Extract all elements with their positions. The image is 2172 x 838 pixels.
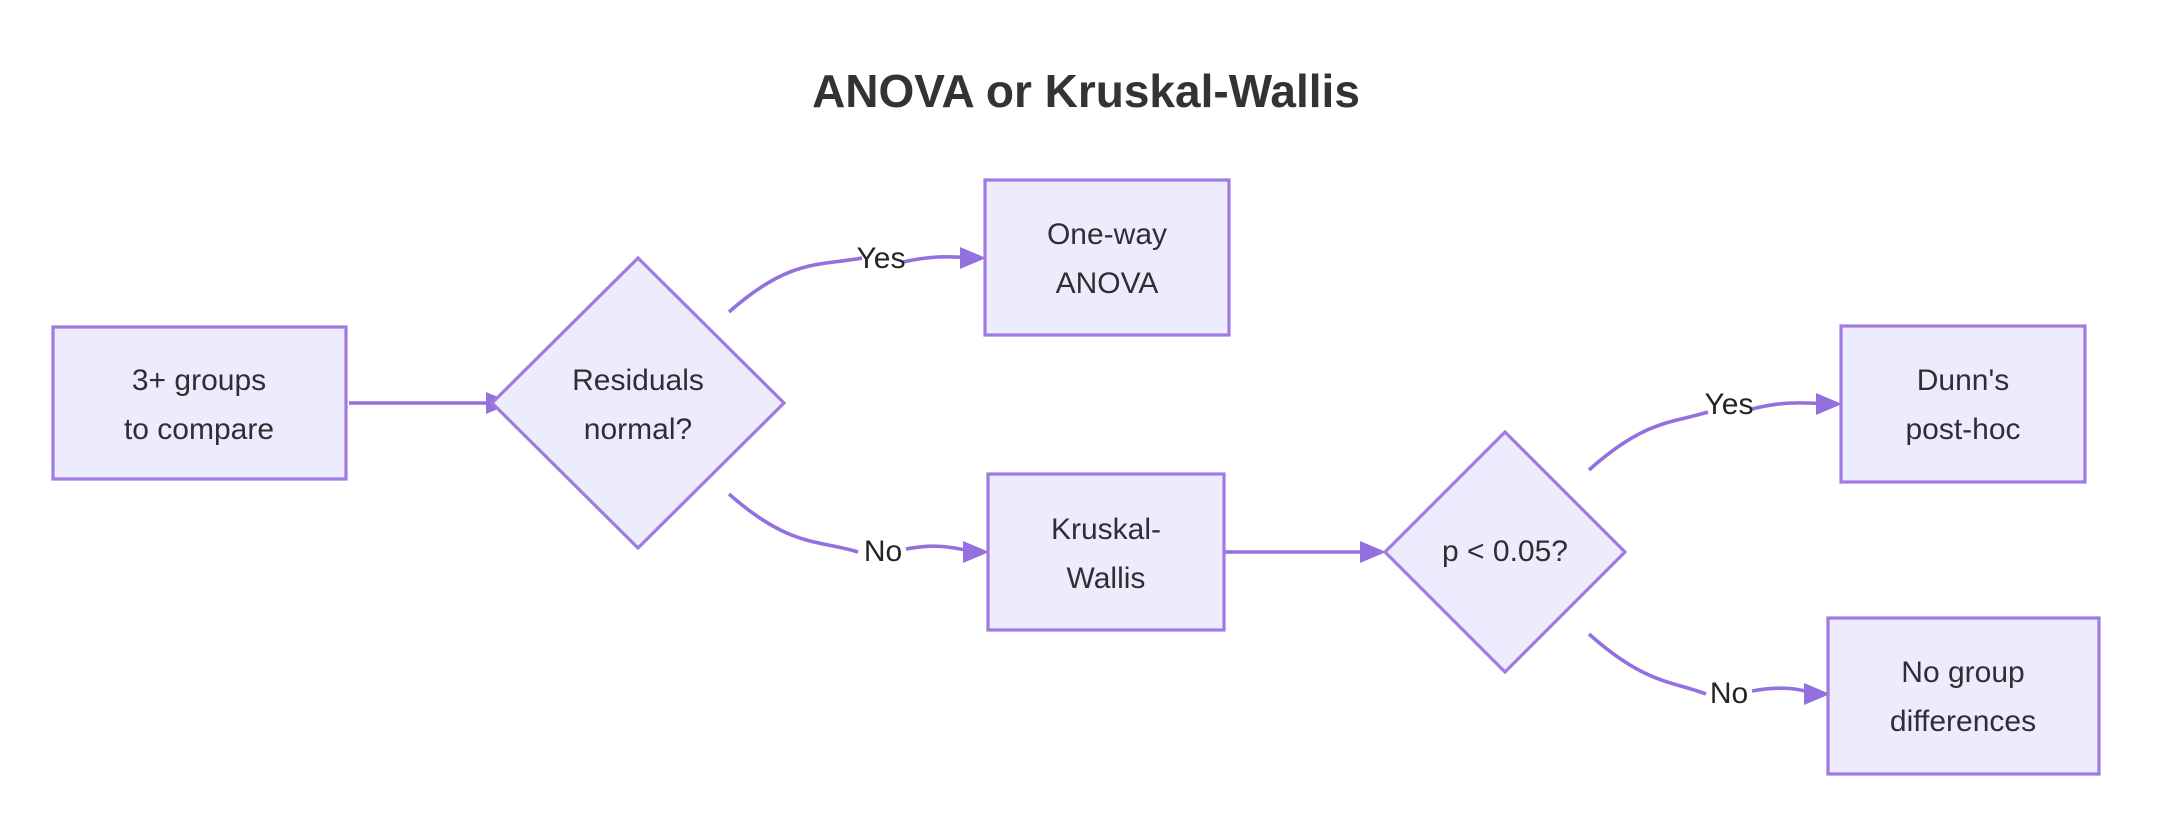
node-nodiff-shape[interactable] — [1828, 618, 2099, 774]
node-start-line2: to compare — [124, 413, 274, 446]
edge-normality-to-anova: Yes — [729, 242, 986, 312]
edge-pvalue-to-nodiff: No — [1589, 634, 1830, 710]
edge-line-lower — [1589, 634, 1706, 694]
edge-label-yes-right: Yes — [1705, 388, 1754, 421]
node-anova-line1: One-way — [1047, 218, 1167, 251]
node-start-shape[interactable] — [53, 327, 346, 479]
arrowhead-icon — [1360, 541, 1386, 563]
edge-line-lower — [1589, 412, 1708, 470]
arrowhead-icon — [1804, 683, 1830, 705]
node-start-line1: 3+ groups — [132, 364, 266, 397]
node-anova-line2: ANOVA — [1056, 267, 1159, 300]
edge-normality-to-kruskal: No — [729, 494, 989, 568]
node-nodiff-line2: differences — [1890, 705, 2036, 738]
node-dunn-line1: Dunn's — [1917, 364, 2009, 397]
node-nodiff[interactable]: No group differences — [1828, 618, 2099, 774]
arrowhead-icon — [963, 541, 989, 563]
node-kruskal-shape[interactable] — [988, 474, 1224, 630]
node-start[interactable]: 3+ groups to compare — [53, 327, 346, 479]
flowchart-svg: ANOVA or Kruskal-Wallis Yes No — [0, 0, 2172, 838]
edge-line-lower — [729, 494, 858, 552]
edge-label-yes-top: Yes — [857, 242, 906, 275]
node-dunn-line2: post-hoc — [1905, 413, 2020, 446]
edge-pvalue-to-dunn: Yes — [1589, 388, 1842, 470]
node-dunn-shape[interactable] — [1841, 326, 2085, 482]
node-normality-line1: Residuals — [572, 364, 704, 397]
node-kruskal-line1: Kruskal- — [1051, 513, 1161, 546]
page-title: ANOVA or Kruskal-Wallis — [812, 65, 1360, 117]
arrowhead-icon — [1816, 393, 1842, 415]
edge-label-no-right: No — [1710, 677, 1748, 710]
node-dunn[interactable]: Dunn's post-hoc — [1841, 326, 2085, 482]
node-anova-shape[interactable] — [985, 180, 1229, 335]
node-kruskal[interactable]: Kruskal- Wallis — [988, 474, 1224, 630]
edge-kruskal-to-pvalue — [1223, 541, 1386, 563]
node-normality-line2: normal? — [584, 413, 692, 446]
node-kruskal-line2: Wallis — [1067, 562, 1146, 595]
node-anova[interactable]: One-way ANOVA — [985, 180, 1229, 335]
flowchart-canvas: ANOVA or Kruskal-Wallis Yes No — [0, 0, 2172, 838]
arrowhead-icon — [960, 247, 986, 269]
node-nodiff-line1: No group — [1901, 656, 2024, 689]
edge-line-lower — [729, 258, 862, 312]
edge-label-no-bottom: No — [864, 535, 902, 568]
edge-start-to-normality — [349, 392, 512, 414]
node-pvalue-line1: p < 0.05? — [1442, 535, 1568, 568]
